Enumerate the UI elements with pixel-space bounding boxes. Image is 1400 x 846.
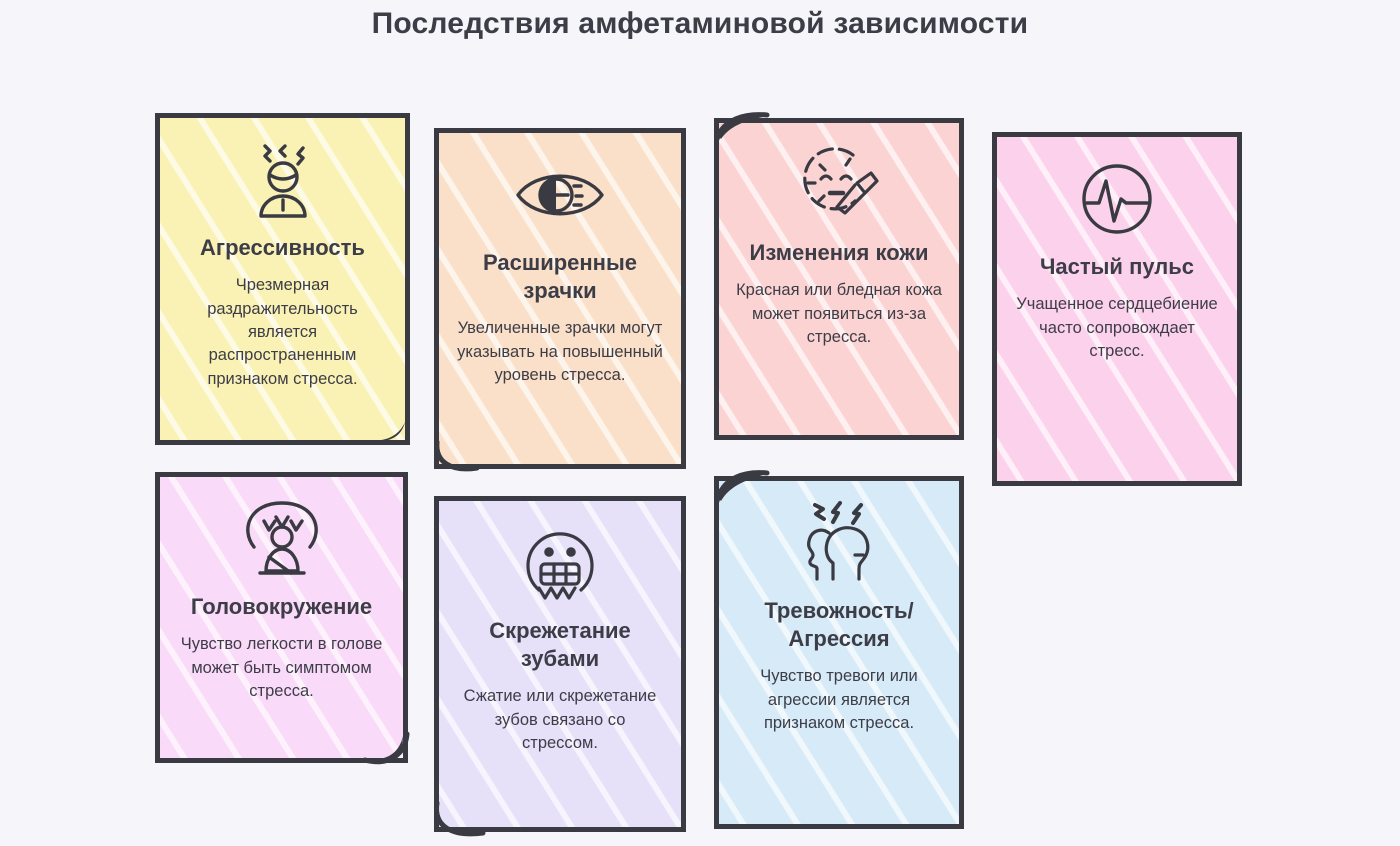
card-body: Чувство легкости в голове может быть сим… [176, 633, 387, 703]
card-title: Частый пульс [1040, 253, 1194, 281]
card-title: Изменения кожи [750, 239, 929, 267]
card-teeth-grinding[interactable]: Скрежетание зубами Сжатие или скрежетани… [434, 496, 686, 832]
card-body: Увеличенные зрачки могут указывать на по… [455, 317, 665, 387]
card-title: Головокружение [191, 593, 372, 621]
card-title: Агрессивность [200, 234, 365, 262]
card-title: Скрежетание зубами [455, 617, 665, 673]
card-skin-changes[interactable]: Изменения кожи Красная или бледная кожа … [714, 118, 964, 440]
dizzy-person-icon [236, 491, 328, 587]
infographic-canvas: Последствия амфетаминовой зависимости [0, 0, 1400, 846]
card-aggressiveness[interactable]: Агрессивность Чрезмерная раздражительнос… [155, 113, 410, 445]
card-body: Учащенное сердцебиение часто сопровождае… [1013, 293, 1221, 363]
card-body: Сжатие или скрежетание зубов связано со … [455, 685, 665, 755]
page-title: Последствия амфетаминовой зависимости [0, 4, 1400, 44]
face-brush-icon [793, 137, 885, 233]
card-dizziness[interactable]: Головокружение Чувство легкости в голове… [155, 472, 408, 763]
card-title: Расширенные зрачки [455, 249, 665, 305]
card-body: Чувство тревоги или агрессии является пр… [735, 665, 943, 735]
eye-pupil-icon [512, 147, 608, 243]
heartbeat-circle-icon [1075, 151, 1159, 247]
two-heads-lightning-icon [793, 495, 885, 591]
card-body: Чрезмерная раздражительность является ра… [176, 274, 389, 391]
grinding-teeth-face-icon [517, 515, 603, 611]
angry-person-icon [239, 132, 327, 228]
card-dilated-pupils[interactable]: Расширенные зрачки Увеличенные зрачки мо… [434, 128, 686, 469]
card-title: Тревожность/ Агрессия [735, 597, 943, 653]
card-body: Красная или бледная кожа может появиться… [735, 279, 943, 349]
card-anxiety-aggression[interactable]: Тревожность/ Агрессия Чувство тревоги ил… [714, 476, 964, 829]
card-rapid-pulse[interactable]: Частый пульс Учащенное сердцебиение част… [992, 132, 1242, 486]
